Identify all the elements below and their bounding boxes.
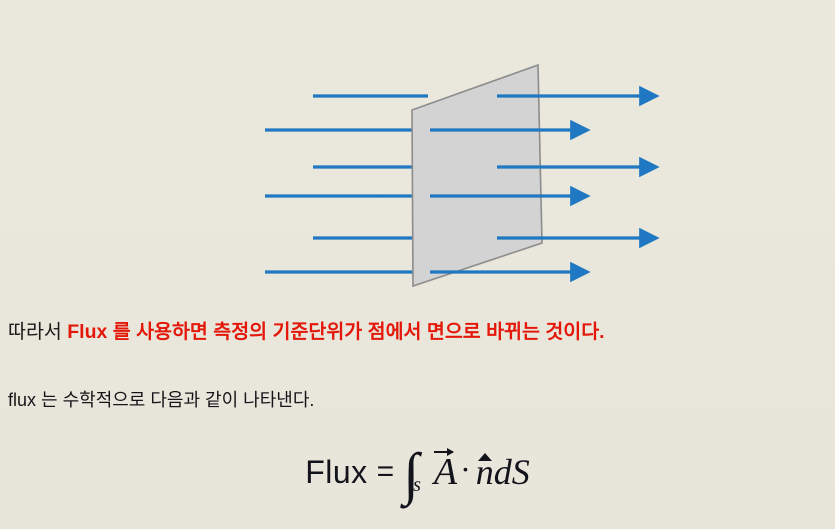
vector-a-symbol: A <box>433 450 458 494</box>
dot-product-operator: · <box>460 451 471 488</box>
paragraph-flux-definition: 따라서 Flux 를 사용하면 측정의 기준단위가 점에서 면으로 바뀌는 것이… <box>8 319 605 345</box>
surface-plane <box>412 65 542 286</box>
unit-normal-symbol: n <box>476 451 494 493</box>
integral-subscript: s <box>413 474 421 497</box>
vector-a-letter: A <box>434 451 457 493</box>
flux-formula: Flux = ∫ s A · n dS <box>0 450 835 494</box>
paragraph-highlight-text: Flux 를 사용하면 측정의 기준단위가 점에서 면으로 바뀌는 것이다. <box>67 321 604 343</box>
paragraph-lead-text: 따라서 <box>8 321 67 343</box>
paragraph-flux-math-intro: flux 는 수학적으로 다음과 같이 나타낸다. <box>8 387 314 413</box>
formula-label: Flux <box>305 454 367 491</box>
surface-differential: dS <box>494 451 530 493</box>
hat-accent <box>478 453 492 461</box>
formula-equals-sign: = <box>377 455 395 489</box>
vector-arrow-accent <box>434 451 453 453</box>
page-root: 따라서 Flux 를 사용하면 측정의 기준단위가 점에서 면으로 바뀌는 것이… <box>0 0 835 529</box>
arrow-segments-incoming <box>265 96 428 272</box>
flux-formula-row: Flux = ∫ s A · n dS <box>305 450 530 494</box>
flux-diagram <box>0 0 835 300</box>
